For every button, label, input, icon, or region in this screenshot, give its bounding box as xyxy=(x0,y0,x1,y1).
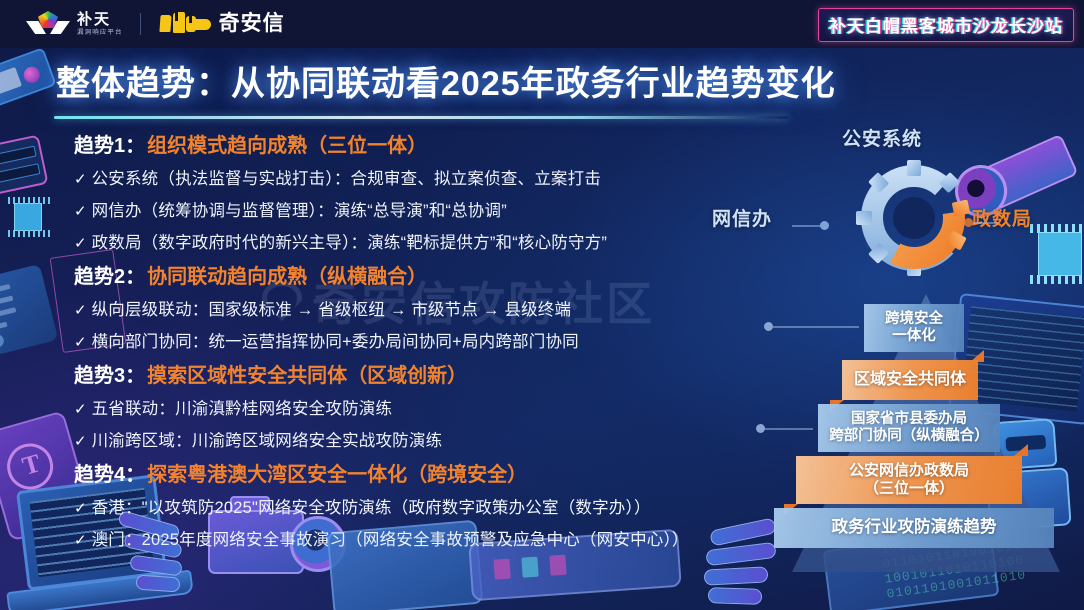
trend-bullet-text: 公安系统（执法监督与实战打击）：合规审查、拟立案侦查、立案打击 xyxy=(92,169,601,189)
trend-bullet-text: 川渝跨区域：川渝跨区域网络安全实战攻防演练 xyxy=(92,431,443,451)
pyramid-tier-line1: 跨境安全 xyxy=(885,311,943,328)
trend-heading: 趋势2： 协同联动趋向成熟（纵横融合） xyxy=(74,265,774,289)
gear-connector-left xyxy=(792,225,822,227)
gear-label-top: 公安系统 xyxy=(842,124,922,151)
trend-bullet-text: 政数局（数字政府时代的新兴主导）：演练“靶标提供方”和“核心防守方” xyxy=(92,233,608,253)
page-title: 整体趋势：从协同联动看2025年政务行业趋势变化 xyxy=(56,62,836,106)
check-icon: ✓ xyxy=(74,234,87,254)
pyramid-connector-1 xyxy=(773,326,859,328)
event-banner: 补天白帽黑客城市沙龙长沙站 xyxy=(818,8,1074,42)
event-banner-text: 补天白帽黑客城市沙龙长沙站 xyxy=(829,17,1063,37)
title-divider xyxy=(54,116,788,119)
trend-diagram: 公安系统 网信办 政数局 xyxy=(768,118,1084,588)
check-icon: ✓ xyxy=(74,170,87,190)
deco-device-panel xyxy=(0,264,58,358)
butian-subtitle: 漏洞响应平台 xyxy=(77,30,123,36)
trend-bullet-text: 香港："以攻筑防2025"网络安全攻防演练（政府数字政策办公室（数字办）） xyxy=(92,498,651,518)
pyramid-node-3 xyxy=(756,424,765,433)
trend-bullet: ✓ 政数局（数字政府时代的新兴主导）：演练“靶标提供方”和“核心防守方” xyxy=(74,233,774,254)
pyramid-tier: 公安网信办政数局 （三位一体） xyxy=(796,456,1022,504)
pyramid-fold-right-4 xyxy=(1014,444,1028,456)
trend-bullet: ✓ 纵向层级联动：国家级标准 → 省级枢纽 → 市级节点 → 县级终端 xyxy=(74,300,774,321)
check-icon: ✓ xyxy=(74,333,87,353)
check-icon: ✓ xyxy=(74,202,87,222)
trend-bullet: ✓ 公安系统（执法监督与实战打击）：合规审查、拟立案侦查、立案打击 xyxy=(74,169,774,190)
logo-divider xyxy=(140,13,141,35)
trend-label: 趋势2： xyxy=(74,265,145,289)
check-icon: ✓ xyxy=(74,301,87,321)
pyramid-tier-line1: 政务行业攻防演练趋势 xyxy=(832,518,997,537)
check-icon: ✓ xyxy=(74,400,87,420)
check-icon: ✓ xyxy=(74,432,87,452)
qax-logo-group: 奇安信 xyxy=(158,11,285,37)
pyramid-tier-line2: 跨部门协同（纵横融合） xyxy=(829,428,989,445)
pyramid-chart: 跨境安全 一体化 区域安全共同体 国家省市县委办局 跨部门协同（纵横融合） 公安… xyxy=(768,294,1084,586)
qax-name: 奇安信 xyxy=(219,11,285,37)
trend-label: 趋势1： xyxy=(74,134,145,158)
trend-heading: 趋势1： 组织模式趋向成熟（三位一体） xyxy=(74,134,774,158)
gear-connector-right xyxy=(972,222,998,224)
gear-label-left: 网信办 xyxy=(712,204,772,231)
logo-group: 补天 漏洞响应平台 奇安信 xyxy=(26,9,285,39)
pyramid-node-1 xyxy=(764,322,773,331)
pyramid-tier: 国家省市县委办局 跨部门协同（纵横融合） xyxy=(818,404,1000,452)
slide-root: 1010110100101101011010110100101110010110… xyxy=(0,0,1084,610)
gear-icon xyxy=(854,158,974,278)
trend-value: 探索粤港澳大湾区安全一体化（跨境安全） xyxy=(147,463,527,487)
trend-bullet-text: 横向部门协同：统一运营指挥协同+委办局间协同+局内跨部门协同 xyxy=(92,332,579,352)
pyramid-tier-line1: 区域安全共同体 xyxy=(854,371,966,390)
qax-tiger-icon xyxy=(158,11,214,37)
butian-name: 补天 xyxy=(77,12,123,27)
butian-logo-icon xyxy=(26,9,70,39)
deco-chip-left-icon xyxy=(14,203,42,231)
pyramid-tier-line2: 一体化 xyxy=(892,328,936,345)
trend-heading: 趋势4： 探索粤港澳大湾区安全一体化（跨境安全） xyxy=(74,463,774,487)
trend-bullet: ✓ 五省联动：川渝滇黔桂网络安全攻防演练 xyxy=(74,399,774,420)
gear-node-left xyxy=(820,221,829,230)
pyramid-tier: 区域安全共同体 xyxy=(842,360,978,400)
butian-wordmark: 补天 漏洞响应平台 xyxy=(77,12,123,37)
trend-bullet: ✓ 川渝跨区域：川渝跨区域网络安全实战攻防演练 xyxy=(74,431,774,452)
pyramid-tier-line2: （三位一体） xyxy=(864,480,954,498)
pyramid-connector-3 xyxy=(765,428,813,430)
trend-bullet: ✓ 香港："以攻筑防2025"网络安全攻防演练（政府数字政策办公室（数字办）） xyxy=(74,498,774,519)
gear-label-right: 政数局 xyxy=(972,204,1032,231)
trend-label: 趋势4： xyxy=(74,463,145,487)
trend-heading: 趋势3： 摸索区域性安全共同体（区域创新） xyxy=(74,364,774,388)
trend-bullet-text: 网信办（统筹协调与监督管理）：演练“总导演”和“总协调” xyxy=(92,201,507,221)
trend-bullet: ✓ 横向部门协同：统一运营指挥协同+委办局间协同+局内跨部门协同 xyxy=(74,332,774,353)
trend-bullet-text: 澳门：2025年度网络安全事故演习（网络安全事故预警及应急中心（网安中心）） xyxy=(92,530,689,550)
deco-device-tablet xyxy=(0,47,57,109)
trend-value: 摸索区域性安全共同体（区域创新） xyxy=(147,364,467,388)
trend-value: 协同联动趋向成熟（纵横融合） xyxy=(147,265,427,289)
trend-label: 趋势3： xyxy=(74,364,145,388)
trend-bullet-text: 纵向层级联动：国家级标准 → 省级枢纽 → 市级节点 → 县级终端 xyxy=(92,300,572,320)
pyramid-tier: 政务行业攻防演练趋势 xyxy=(774,508,1054,548)
trend-bullet: ✓ 澳门：2025年度网络安全事故演习（网络安全事故预警及应急中心（网安中心）） xyxy=(74,530,774,551)
trend-bullet-text: 五省联动：川渝滇黔桂网络安全攻防演练 xyxy=(92,399,393,419)
pyramid-tier-line1: 国家省市县委办局 xyxy=(851,411,967,428)
deco-device-server xyxy=(0,135,49,196)
check-icon: ✓ xyxy=(74,499,87,519)
page-title-wrap: 整体趋势：从协同联动看2025年政务行业趋势变化 xyxy=(56,62,836,106)
top-bar: 补天 漏洞响应平台 奇安信 补天白帽黑客城市沙龙长沙站 xyxy=(0,0,1084,48)
pyramid-tier-line1: 公安网信办政数局 xyxy=(849,462,969,480)
check-icon: ✓ xyxy=(74,531,87,551)
pyramid-tier: 跨境安全 一体化 xyxy=(864,304,964,352)
trend-value: 组织模式趋向成熟（三位一体） xyxy=(147,134,427,158)
trend-list: 趋势1： 组织模式趋向成熟（三位一体） ✓ 公安系统（执法监督与实战打击）：合规… xyxy=(74,134,774,551)
trend-bullet: ✓ 网信办（统筹协调与监督管理）：演练“总导演”和“总协调” xyxy=(74,201,774,222)
